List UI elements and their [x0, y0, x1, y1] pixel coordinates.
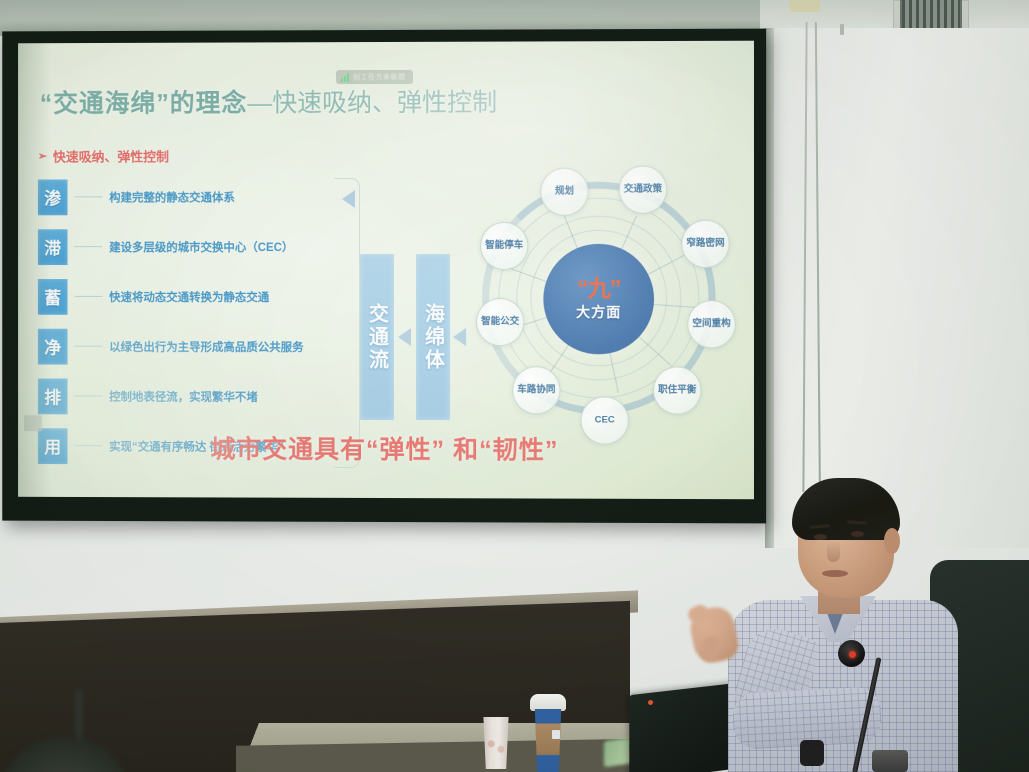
- person-mouth: [822, 570, 848, 577]
- item-badge: 滞: [38, 229, 68, 265]
- projection-screen-surface: 创工在方来联盟 “交通海绵”的理念—快速吸纳、弹性控制 ➢ 快速吸纳、弹性控制 …: [18, 41, 754, 500]
- list-item: 蓄 快速将动态交通转换为静态交通: [38, 274, 346, 319]
- wheel-node-planning[interactable]: 规划: [540, 168, 588, 216]
- slide-title-strong: “交通海绵”的理念: [40, 89, 247, 117]
- bullet-arrow-icon: ➢: [38, 150, 47, 163]
- wall-corner-edge: [765, 28, 774, 548]
- cable-clip: [840, 24, 844, 35]
- wheel-core: “九” 大方面: [543, 244, 654, 354]
- item-connector: [74, 196, 102, 197]
- item-badge: 蓄: [38, 278, 68, 314]
- slide-content: 创工在方来联盟 “交通海绵”的理念—快速吸纳、弹性控制 ➢ 快速吸纳、弹性控制 …: [18, 41, 754, 500]
- slide-footer-headline: 城市交通具有“弹性” 和“韧性”: [18, 429, 754, 467]
- slide-title: “交通海绵”的理念—快速吸纳、弹性控制: [40, 90, 497, 119]
- flow-arrow-in-icon: [453, 328, 466, 346]
- projection-screen-frame: 创工在方来联盟 “交通海绵”的理念—快速吸纳、弹性控制 ➢ 快速吸纳、弹性控制 …: [2, 29, 766, 524]
- flow-box-traffic: 交通流: [360, 254, 394, 420]
- item-connector: [74, 296, 102, 297]
- slide-watermark-badge: 创工在方来联盟: [336, 70, 412, 84]
- group-bracket: [334, 178, 360, 468]
- bullet-heading-label: 快速吸纳、弹性控制: [53, 146, 169, 165]
- person-nose: [827, 540, 840, 562]
- list-item: 滞 建设多层级的城市交换中心（CEC）: [38, 224, 346, 269]
- wheel-node-jobs-housing-balance[interactable]: 职住平衡: [653, 366, 701, 414]
- flow-arrow-mid-icon: [398, 328, 411, 346]
- person-eye: [851, 531, 864, 537]
- item-connector: [74, 246, 102, 247]
- bar-chart-icon: [341, 73, 349, 82]
- person-wristwatch: [800, 740, 824, 766]
- ceiling-panel-patch: [790, 0, 820, 12]
- wheel-core-label: 大方面: [576, 302, 621, 322]
- item-badge: 渗: [38, 179, 68, 215]
- item-label: 控制地表径流，实现繁华不堵: [109, 388, 258, 404]
- item-badge: 排: [38, 378, 68, 414]
- coffee-cup: [530, 694, 566, 772]
- conference-room-photo: 创工在方来联盟 “交通海绵”的理念—快速吸纳、弹性控制 ➢ 快速吸纳、弹性控制 …: [0, 0, 1029, 772]
- wheel-node-smart-parking[interactable]: 智能停车: [480, 222, 528, 270]
- list-item: 净 以绿色出行为主导形成高品质公共服务: [38, 324, 346, 369]
- coffee-cup-logo: [552, 730, 560, 739]
- microphone-base: [872, 750, 908, 772]
- slide-title-light: —快速吸纳、弹性控制: [247, 89, 497, 118]
- nine-aspects-wheel: “九” 大方面 交通政策 窄路密网 空间重构 职住平衡 CEC 车路协同 智能公…: [468, 149, 730, 451]
- coffee-cup-sleeve: [533, 709, 563, 772]
- wheel-node-transport-policy[interactable]: 交通政策: [619, 166, 667, 214]
- person-ear: [884, 528, 900, 554]
- item-label: 构建完整的静态交通体系: [109, 189, 235, 205]
- item-badge: 净: [38, 328, 68, 364]
- wheel-node-vehicle-road-coop[interactable]: 车路协同: [512, 366, 560, 414]
- wheel-node-spatial-restructure[interactable]: 空间重构: [687, 300, 735, 348]
- wheel-core-count: “九”: [577, 277, 620, 300]
- item-label: 以绿色出行为主导形成高品质公共服务: [109, 338, 303, 354]
- flow-arrow-out-icon: [342, 190, 355, 208]
- air-vent-icon: [900, 0, 962, 30]
- watermark-label: 创工在方来联盟: [353, 72, 405, 82]
- flow-box-sponge: 海绵体: [416, 254, 450, 420]
- wheel-node-smart-bus[interactable]: 智能公交: [476, 298, 524, 346]
- coffee-cup-lid: [530, 694, 566, 711]
- slide-bullet-heading: ➢ 快速吸纳、弹性控制: [38, 146, 169, 165]
- microphone-led-icon: [849, 651, 856, 658]
- item-label: 建设多层级的城市交换中心（CEC）: [109, 239, 293, 255]
- flow-box-sponge-label: 海绵体: [419, 303, 448, 372]
- list-item: 渗 构建完整的静态交通体系: [38, 174, 346, 219]
- item-connector: [74, 346, 102, 347]
- paper-cup-pattern: [484, 735, 508, 757]
- item-label: 快速将动态交通转换为静态交通: [109, 288, 269, 304]
- list-item: 排 控制地表径流，实现繁华不堵: [38, 373, 346, 418]
- slide-item-list: 渗 构建完整的静态交通体系 滞 建设多层级的城市交换中心（CEC） 蓄: [38, 174, 346, 469]
- paper-cup: [481, 717, 511, 769]
- person-eye: [814, 534, 827, 540]
- flow-box-traffic-label: 交通流: [363, 302, 392, 371]
- laptop-logo-dot-icon: [648, 700, 653, 705]
- item-connector: [74, 395, 102, 396]
- wheel-node-narrow-dense-roads[interactable]: 窄路密网: [681, 220, 729, 268]
